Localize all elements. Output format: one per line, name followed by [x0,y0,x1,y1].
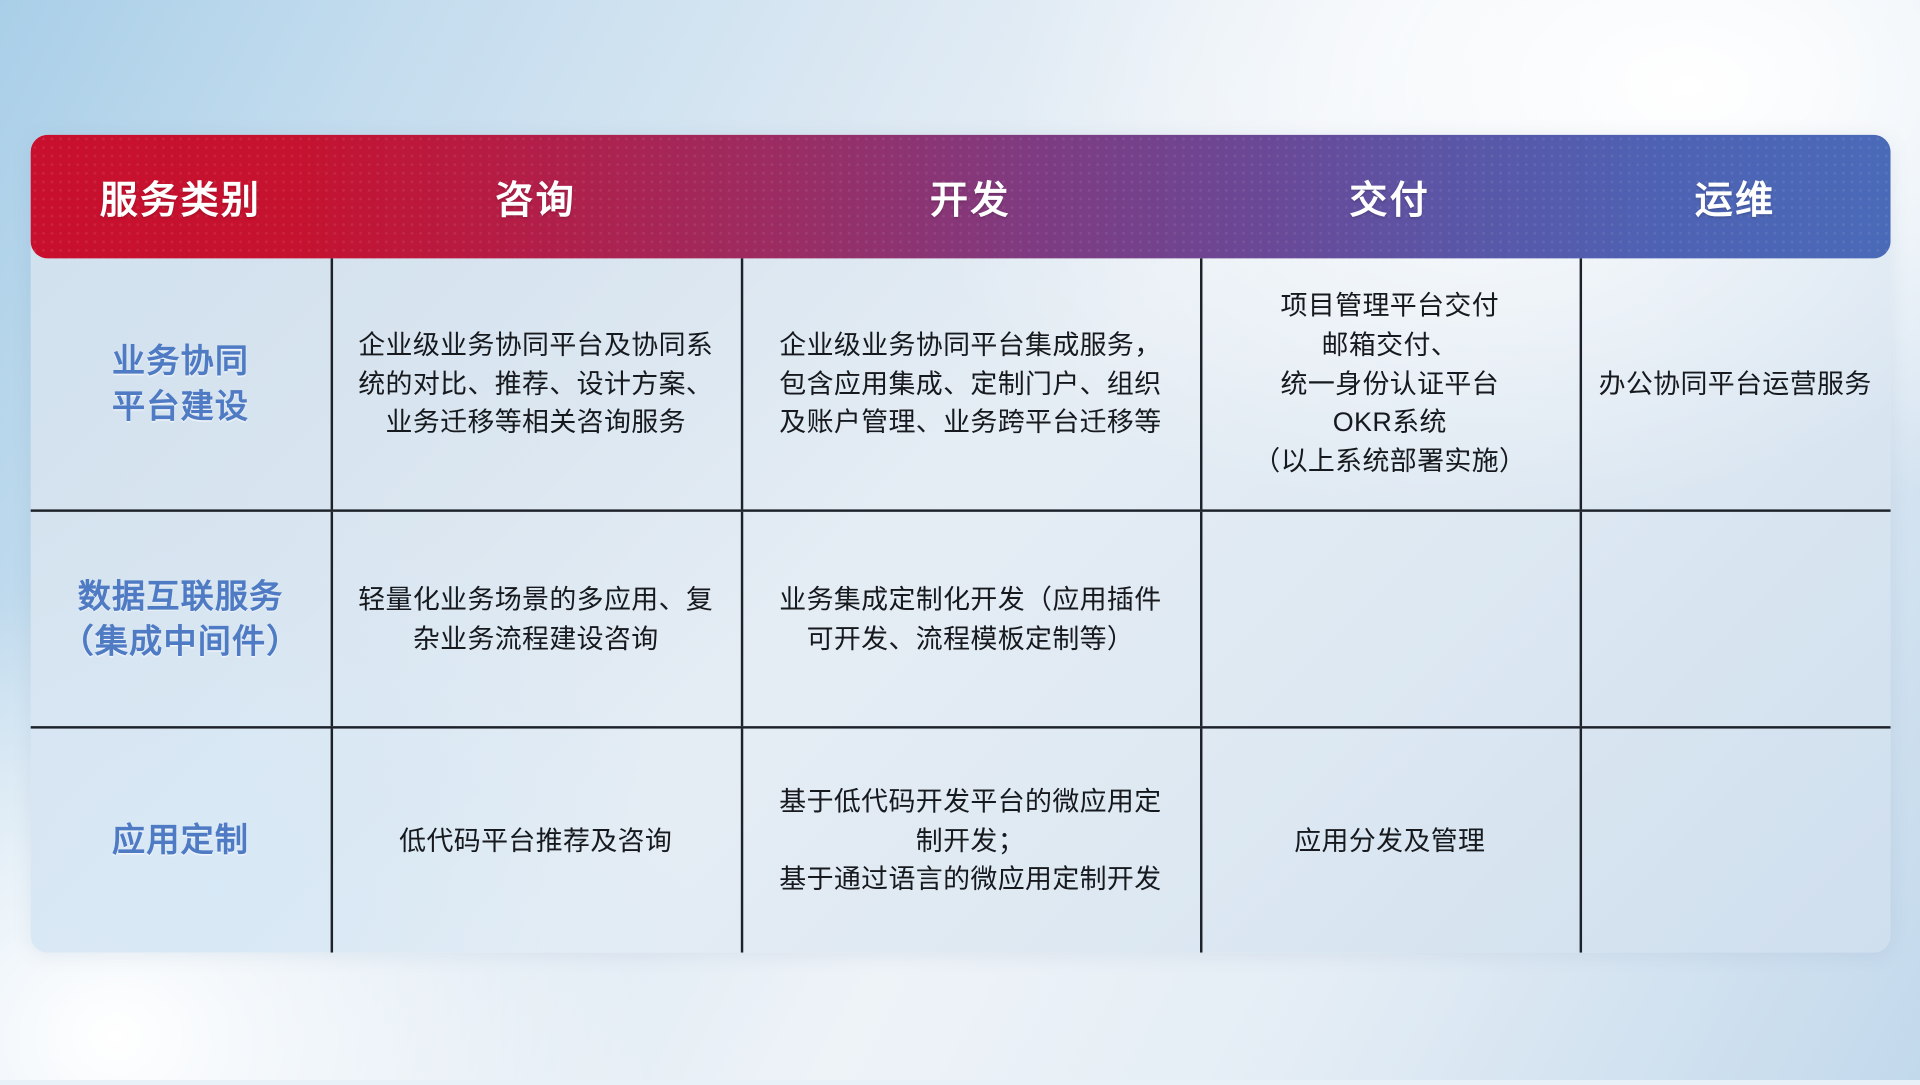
category-label: 数据互联服务 （集成中间件） [61,574,301,663]
cell-consulting: 低代码平台推荐及咨询 [331,729,741,953]
row-category-cell: 应用定制 [31,729,331,953]
cell-text: 企业级业务协同平台及协同系 统的对比、推荐、设计方案、 业务迁移等相关咨询服务 [358,325,713,442]
column-header-delivery: 交付 [1200,169,1580,224]
cell-text: 办公协同平台运营服务 [1599,364,1872,403]
cell-text: 轻量化业务场景的多应用、复 杂业务流程建设咨询 [358,580,713,658]
cell-development: 业务集成定制化开发（应用插件 可开发、流程模板定制等） [741,512,1200,726]
cell-operations [1580,512,1891,726]
cell-delivery: 项目管理平台交付 邮箱交付、 统一身份认证平台 OKR系统 （以上系统部署实施） [1200,258,1580,509]
cell-development: 基于低代码开发平台的微应用定 制开发； 基于通过语言的微应用定制开发 [741,729,1200,953]
category-label: 应用定制 [112,818,249,863]
column-header-development: 开发 [741,169,1200,224]
cell-text: 应用分发及管理 [1294,821,1485,860]
table-body: 业务协同 平台建设 企业级业务协同平台及协同系 统的对比、推荐、设计方案、 业务… [31,258,1891,952]
cell-text: 低代码平台推荐及咨询 [399,821,672,860]
cell-development: 企业级业务协同平台集成服务， 包含应用集成、定制门户、组织 及账户管理、业务跨平… [741,258,1200,509]
cell-text: 项目管理平台交付 邮箱交付、 统一身份认证平台 OKR系统 （以上系统部署实施） [1253,286,1526,481]
category-label: 业务协同 平台建设 [112,339,249,428]
cell-operations: 办公协同平台运营服务 [1580,258,1891,509]
row-category-cell: 业务协同 平台建设 [31,258,331,509]
cell-consulting: 企业级业务协同平台及协同系 统的对比、推荐、设计方案、 业务迁移等相关咨询服务 [331,258,741,509]
column-header-operations: 运维 [1580,169,1891,224]
cell-text: 企业级业务协同平台集成服务， 包含应用集成、定制门户、组织 及账户管理、业务跨平… [779,325,1161,442]
table-row: 数据互联服务 （集成中间件） 轻量化业务场景的多应用、复 杂业务流程建设咨询 业… [31,509,1891,726]
cell-text: 业务集成定制化开发（应用插件 可开发、流程模板定制等） [779,580,1161,658]
table-header-row: 服务类别 咨询 开发 交付 运维 [31,135,1891,259]
service-matrix-table: 服务类别 咨询 开发 交付 运维 业务协同 平台建设 企业级业务协同平台及协同系… [31,135,1891,953]
cell-delivery: 应用分发及管理 [1200,729,1580,953]
cell-text: 基于低代码开发平台的微应用定 制开发； 基于通过语言的微应用定制开发 [779,782,1161,899]
cell-consulting: 轻量化业务场景的多应用、复 杂业务流程建设咨询 [331,512,741,726]
cell-delivery [1200,512,1580,726]
table-row: 业务协同 平台建设 企业级业务协同平台及协同系 统的对比、推荐、设计方案、 业务… [31,258,1891,509]
cell-operations [1580,729,1891,953]
column-header-consulting: 咨询 [331,169,741,224]
table-row: 应用定制 低代码平台推荐及咨询 基于低代码开发平台的微应用定 制开发； 基于通过… [31,726,1891,953]
slide-canvas: 服务类别 咨询 开发 交付 运维 业务协同 平台建设 企业级业务协同平台及协同系… [0,0,1920,1080]
column-header-category: 服务类别 [31,169,331,224]
service-matrix-artwork: 服务类别 咨询 开发 交付 运维 业务协同 平台建设 企业级业务协同平台及协同系… [0,0,1920,1085]
row-category-cell: 数据互联服务 （集成中间件） [31,512,331,726]
